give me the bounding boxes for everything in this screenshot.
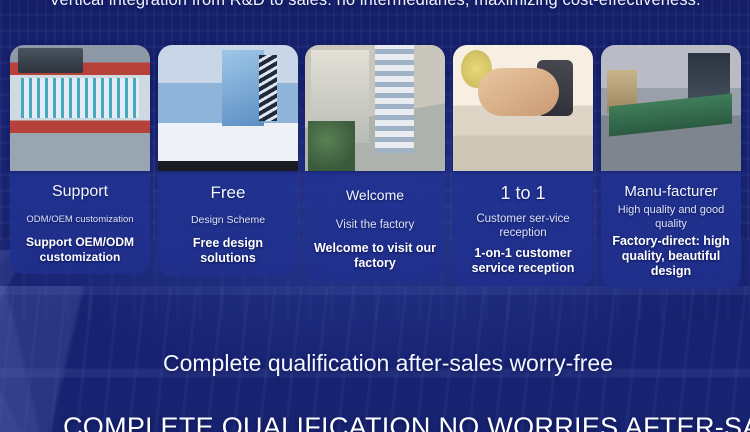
- feature-card-title: Free: [162, 183, 294, 203]
- feature-card-panel: 1 to 1 Customer ser-vice reception 1-on-…: [453, 171, 593, 286]
- feature-card-caption: Factory-direct: high quality, beautiful …: [607, 234, 735, 279]
- handshake-photo: [453, 45, 593, 171]
- feature-card-caption: 1-on-1 customer service reception: [459, 246, 587, 276]
- feature-card-caption: Free design solutions: [164, 236, 292, 266]
- feature-card-panel: Free Design Scheme Free design solutions: [158, 171, 298, 276]
- feature-card[interactable]: 1 to 1 Customer ser-vice reception 1-on-…: [453, 45, 593, 286]
- feature-card-title: 1 to 1: [457, 183, 589, 204]
- feature-card[interactable]: Manu-facturer High quality and good qual…: [601, 45, 741, 289]
- feature-card[interactable]: Free Design Scheme Free design solutions: [158, 45, 298, 276]
- feature-card-subtitle: High quality and good quality: [607, 204, 735, 232]
- promo-banner: Vertical integration from R&D to sales: …: [0, 0, 750, 432]
- feature-card-panel: Support ODM/OEM customization Support OE…: [10, 171, 150, 274]
- bottom-subheadline: Complete qualification after-sales worry…: [163, 348, 683, 379]
- engineers-reviewing-drawings-photo: [158, 45, 298, 171]
- feature-card-subtitle: Design Scheme: [164, 214, 292, 227]
- feature-card-list: Support ODM/OEM customization Support OE…: [0, 45, 750, 300]
- feature-card-subtitle: ODM/OEM customization: [16, 214, 144, 226]
- feature-card-caption: Support OEM/ODM customization: [16, 235, 144, 264]
- feature-card-panel: Welcome Visit the factory Welcome to vis…: [305, 171, 445, 281]
- feature-card[interactable]: Support ODM/OEM customization Support OE…: [10, 45, 150, 274]
- feature-card-panel: Manu-facturer High quality and good qual…: [601, 171, 741, 289]
- feature-card-title: Manu-facturer: [605, 183, 737, 200]
- pcb-stencil-printer-photo: [10, 45, 150, 171]
- feature-card-subtitle: Visit the factory: [311, 218, 439, 232]
- top-strapline: Vertical integration from R&D to sales: …: [0, 0, 750, 10]
- factory-building-exterior-photo: [305, 45, 445, 171]
- feature-card-title: Support: [14, 183, 146, 201]
- feature-card-title: Welcome: [309, 187, 441, 203]
- feature-card-caption: Welcome to visit our factory: [311, 241, 439, 271]
- feature-card[interactable]: Welcome Visit the factory Welcome to vis…: [305, 45, 445, 281]
- bottom-headline: COMPLETE QUALIFICATION NO WORRIES AFTER-…: [63, 412, 703, 432]
- assembly-line-conveyor-photo: [601, 45, 741, 171]
- feature-card-subtitle: Customer ser-vice reception: [459, 212, 587, 241]
